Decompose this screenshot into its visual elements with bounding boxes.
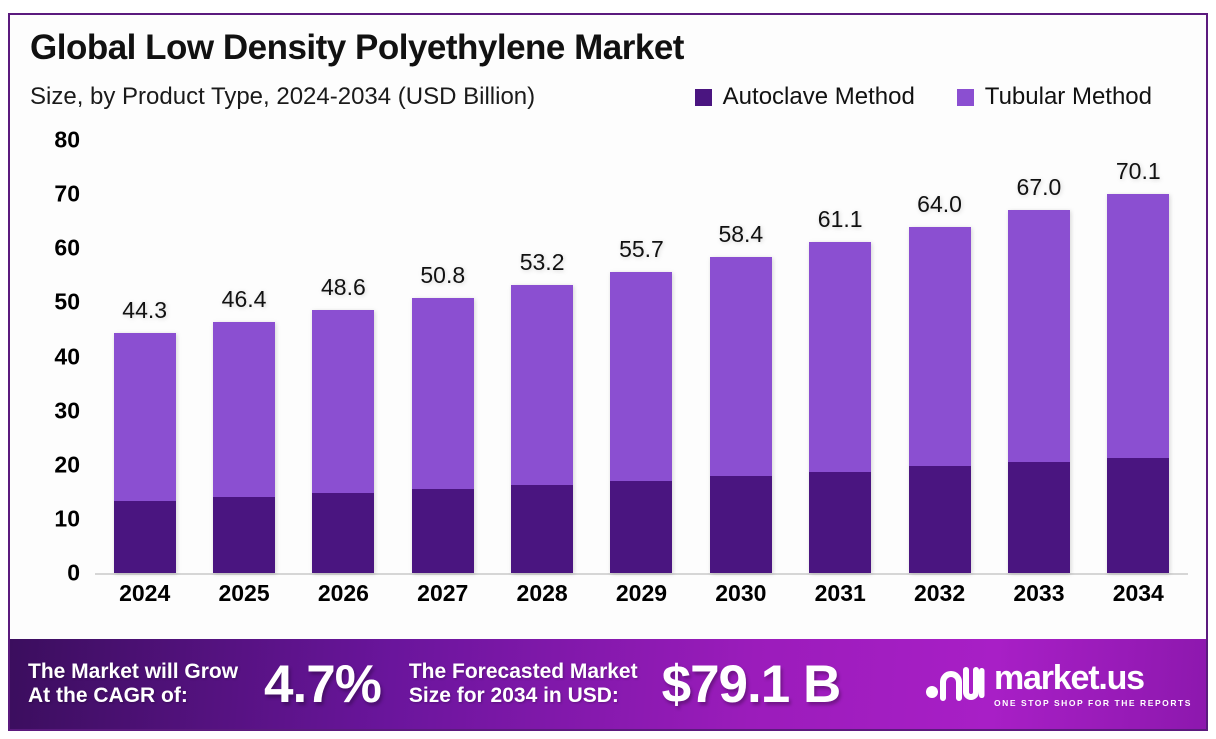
- legend-item-1[interactable]: Autoclave Method: [695, 83, 915, 111]
- bar-segment-tubular[interactable]: [312, 310, 374, 493]
- legend-label: Autoclave Method: [723, 83, 915, 111]
- bar-group[interactable]: 67.0: [989, 140, 1088, 573]
- y-tick-label: 40: [54, 343, 80, 370]
- bar-segment-autoclave[interactable]: [909, 466, 971, 573]
- stacked-bar[interactable]: 44.3: [114, 333, 176, 573]
- square-swatch: [695, 89, 712, 106]
- square-swatch: [957, 89, 974, 106]
- bar-group[interactable]: 46.4: [194, 140, 293, 573]
- cagr-value: 4.7%: [264, 654, 381, 715]
- y-tick-label: 20: [54, 451, 80, 478]
- page-title: Global Low Density Polyethylene Market: [30, 28, 684, 68]
- bar-segment-tubular[interactable]: [809, 242, 871, 471]
- y-tick-label: 10: [54, 505, 80, 532]
- logo-mark-icon: [925, 662, 985, 707]
- bar-segment-autoclave[interactable]: [114, 501, 176, 573]
- bar-segment-tubular[interactable]: [1008, 210, 1070, 462]
- stacked-bar[interactable]: 58.4: [710, 257, 772, 573]
- bar-segment-tubular[interactable]: [213, 322, 275, 497]
- stacked-bar[interactable]: 46.4: [213, 322, 275, 573]
- x-tick-label: 2025: [194, 580, 293, 607]
- cagr-caption: The Market will Grow At the CAGR of:: [28, 660, 238, 709]
- y-tick-label: 50: [54, 289, 80, 316]
- x-tick-label: 2030: [691, 580, 790, 607]
- bar-segment-autoclave[interactable]: [1008, 462, 1070, 573]
- forecast-caption: The Forecasted Market Size for 2034 in U…: [409, 660, 638, 709]
- bar-segment-tubular[interactable]: [511, 285, 573, 485]
- bar-group[interactable]: 55.7: [592, 140, 691, 573]
- summary-banner: The Market will Grow At the CAGR of: 4.7…: [10, 639, 1206, 729]
- bar-segment-tubular[interactable]: [114, 333, 176, 501]
- bar-value-label: 53.2: [520, 249, 565, 276]
- legend-item-2[interactable]: Tubular Method: [957, 83, 1152, 111]
- x-tick-label: 2024: [95, 580, 194, 607]
- bar-value-label: 67.0: [1017, 174, 1062, 201]
- bar-segment-tubular[interactable]: [610, 272, 672, 481]
- bar-segment-tubular[interactable]: [710, 257, 772, 476]
- bar-group[interactable]: 64.0: [890, 140, 989, 573]
- bar-group[interactable]: 50.8: [393, 140, 492, 573]
- x-axis: 2024202520262027202820292030203120322033…: [95, 580, 1188, 607]
- stacked-bar[interactable]: 70.1: [1107, 194, 1169, 573]
- bar-value-label: 70.1: [1116, 158, 1161, 185]
- bar-value-label: 55.7: [619, 236, 664, 263]
- x-tick-label: 2029: [592, 580, 691, 607]
- bar-series: 44.346.448.650.853.255.758.461.164.067.0…: [95, 140, 1188, 573]
- bar-value-label: 50.8: [420, 262, 465, 289]
- x-tick-label: 2026: [294, 580, 393, 607]
- chart-header: Global Low Density Polyethylene Market S…: [10, 15, 1206, 125]
- legend-label: Tubular Method: [985, 83, 1152, 111]
- bar-segment-autoclave[interactable]: [412, 489, 474, 573]
- y-tick-label: 0: [67, 560, 80, 587]
- x-tick-label: 2028: [492, 580, 591, 607]
- x-tick-label: 2034: [1089, 580, 1188, 607]
- bar-value-label: 58.4: [718, 221, 763, 248]
- forecast-value: $79.1 B: [662, 654, 841, 715]
- forecast-caption-line2: Size for 2034 in USD:: [409, 684, 619, 707]
- stacked-bar[interactable]: 48.6: [312, 310, 374, 573]
- bar-segment-autoclave[interactable]: [213, 497, 275, 573]
- y-axis: 01020304050607080: [10, 140, 92, 580]
- cagr-caption-line1: The Market will Grow: [28, 660, 238, 683]
- x-axis-line: [95, 573, 1188, 575]
- stacked-bar[interactable]: 53.2: [511, 285, 573, 573]
- x-tick-label: 2027: [393, 580, 492, 607]
- bar-value-label: 61.1: [818, 206, 863, 233]
- bar-segment-autoclave[interactable]: [1107, 458, 1169, 573]
- logo-text: market.us ONE STOP SHOP FOR THE REPORTS: [994, 661, 1192, 708]
- bar-value-label: 44.3: [122, 297, 167, 324]
- market-us-logo[interactable]: market.us ONE STOP SHOP FOR THE REPORTS: [925, 661, 1192, 708]
- bar-segment-tubular[interactable]: [909, 227, 971, 467]
- bar-segment-autoclave[interactable]: [610, 481, 672, 573]
- bar-group[interactable]: 70.1: [1089, 140, 1188, 573]
- bar-value-label: 64.0: [917, 191, 962, 218]
- chart-subtitle: Size, by Product Type, 2024-2034 (USD Bi…: [30, 83, 535, 111]
- y-tick-label: 30: [54, 397, 80, 424]
- logo-wordmark: market.us: [994, 661, 1144, 695]
- logo-tagline: ONE STOP SHOP FOR THE REPORTS: [994, 698, 1192, 708]
- x-tick-label: 2031: [791, 580, 890, 607]
- stacked-bar[interactable]: 61.1: [809, 242, 871, 573]
- bar-segment-autoclave[interactable]: [710, 476, 772, 573]
- bar-segment-autoclave[interactable]: [511, 485, 573, 573]
- bar-segment-autoclave[interactable]: [809, 472, 871, 573]
- stacked-bar[interactable]: 55.7: [610, 272, 672, 573]
- stacked-bar[interactable]: 67.0: [1008, 210, 1070, 573]
- plot-area: 01020304050607080 44.346.448.650.853.255…: [10, 140, 1206, 620]
- bar-segment-autoclave[interactable]: [312, 493, 374, 573]
- cagr-caption-line2: At the CAGR of:: [28, 684, 188, 707]
- chart-frame: Global Low Density Polyethylene Market S…: [8, 13, 1208, 731]
- x-tick-label: 2033: [989, 580, 1088, 607]
- bar-segment-tubular[interactable]: [412, 298, 474, 489]
- bar-value-label: 48.6: [321, 274, 366, 301]
- bar-group[interactable]: 61.1: [791, 140, 890, 573]
- infographic-root: Global Low Density Polyethylene Market S…: [0, 0, 1216, 739]
- bars-container: 44.346.448.650.853.255.758.461.164.067.0…: [95, 140, 1188, 580]
- y-tick-label: 80: [54, 127, 80, 154]
- stacked-bar[interactable]: 64.0: [909, 227, 971, 573]
- x-tick-label: 2032: [890, 580, 989, 607]
- bar-value-label: 46.4: [222, 286, 267, 313]
- y-tick-label: 70: [54, 181, 80, 208]
- bar-group[interactable]: 48.6: [294, 140, 393, 573]
- bar-group[interactable]: 44.3: [95, 140, 194, 573]
- y-tick-label: 60: [54, 235, 80, 262]
- stacked-bar[interactable]: 50.8: [412, 298, 474, 573]
- bar-group[interactable]: 53.2: [492, 140, 591, 573]
- chart-legend: Autoclave MethodTubular Method: [695, 83, 1152, 111]
- bar-group[interactable]: 58.4: [691, 140, 790, 573]
- bar-segment-tubular[interactable]: [1107, 194, 1169, 458]
- forecast-caption-line1: The Forecasted Market: [409, 660, 638, 683]
